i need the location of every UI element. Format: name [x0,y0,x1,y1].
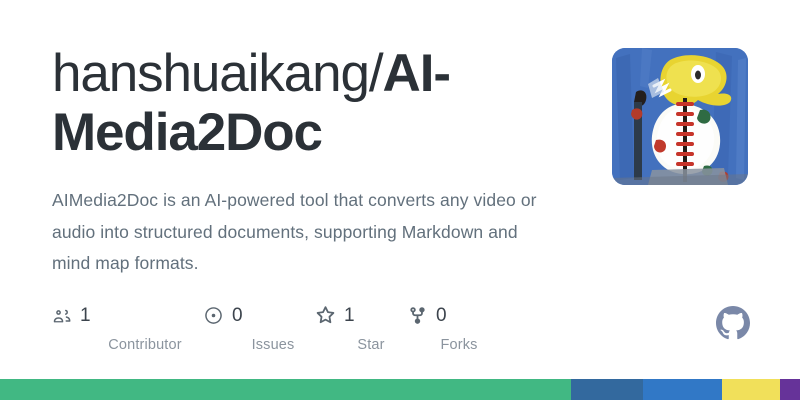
repository-owner: hanshuaikang [52,44,369,103]
people-icon [52,306,71,325]
issue-opened-icon [204,306,223,325]
stat-forks-label: Forks [441,337,478,353]
stat-issues-label: Issues [252,337,295,353]
stat-forks-value-row: 0 [408,303,447,327]
language-segment [571,379,643,400]
stat-contributor: 1 Contributor [52,303,204,353]
language-segment [0,379,571,400]
language-segment [722,379,780,400]
stat-star: 1 Star [316,303,408,353]
repository-separator: / [369,44,383,103]
stat-star-value-row: 1 [316,303,355,327]
repository-avatar [612,48,748,185]
language-segment [643,379,722,400]
stat-issues-value-row: 0 [204,303,243,327]
stat-contributor-label: Contributor [108,337,181,353]
page-title: hanshuaikang/AI-Media2Doc [52,44,592,163]
fork-icon [408,306,427,325]
repository-description: AIMedia2Doc is an AI-powered tool that c… [52,185,552,281]
stat-issues: 0 Issues [204,303,316,353]
language-bar [0,379,800,400]
stat-contributor-value-row: 1 [52,303,91,327]
stat-star-value: 1 [344,306,355,325]
language-segment [780,379,800,400]
repository-stats: 1 Contributor 0 Issues [52,303,488,353]
star-icon [316,306,335,325]
stat-forks-value: 0 [436,306,447,325]
repository-content: hanshuaikang/AI-Media2Doc AIMedia2Doc is… [52,44,592,280]
github-mark-icon [716,306,750,340]
stat-issues-value: 0 [232,306,243,325]
repository-social-preview-card: hanshuaikang/AI-Media2Doc AIMedia2Doc is… [0,0,800,400]
stat-star-label: Star [357,337,384,353]
stat-contributor-value: 1 [80,306,91,325]
stat-forks: 0 Forks [408,303,488,353]
